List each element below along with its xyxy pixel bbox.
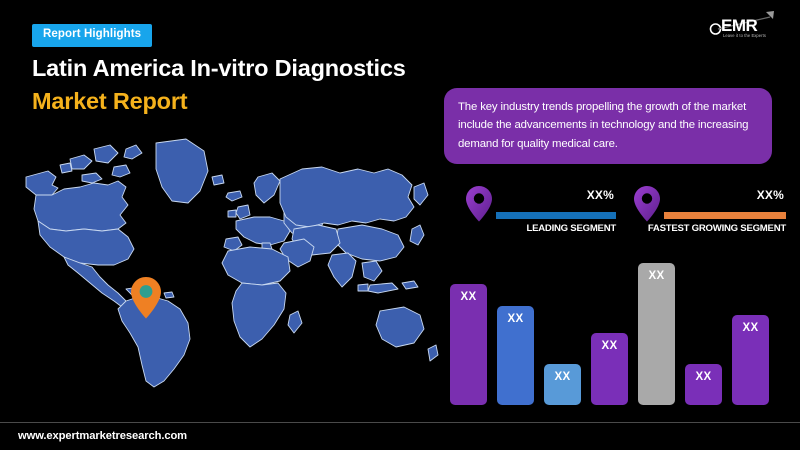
infographic-page: Report Highlights Latin America In-vitro… [0, 0, 800, 450]
fastest-growing-segment-value: XX% [757, 188, 784, 202]
bar-chart-bar-label: XX [497, 313, 534, 325]
key-trends-callout: The key industry trends propelling the g… [444, 88, 772, 164]
bar-chart-bar-label: XX [591, 340, 628, 352]
footer-divider [0, 422, 800, 423]
page-title-primary: Latin America In-vitro Diagnostics [32, 55, 406, 82]
bar-chart-bar: XX [450, 284, 487, 405]
fastest-growing-segment-label: FASTEST GROWING SEGMENT [634, 223, 786, 234]
svg-text:Leave it to the Experts: Leave it to the Experts [723, 33, 766, 38]
map-location-pin-icon [131, 277, 161, 319]
footer-url: www.expertmarketresearch.com [18, 430, 187, 442]
bar-chart-bar-label: XX [544, 371, 581, 383]
fastest-growing-segment: XX% FASTEST GROWING SEGMENT [634, 186, 786, 242]
location-pin-icon [466, 186, 492, 222]
bar-chart-bar-label: XX [450, 291, 487, 303]
bar-chart-bar: XX [544, 364, 581, 405]
page-title-secondary: Market Report [32, 88, 187, 115]
bar-chart-bar: XX [497, 306, 534, 405]
leading-segment-bar [496, 212, 616, 219]
world-map [22, 125, 442, 390]
leading-segment: XX% LEADING SEGMENT [466, 186, 616, 242]
bar-chart-bar-label: XX [685, 371, 722, 383]
bar-chart-bar: XX [638, 263, 675, 405]
bar-chart-bar-label: XX [638, 270, 675, 282]
bar-chart: XXXXXXXXXXXXXX [450, 255, 780, 405]
report-highlights-badge: Report Highlights [32, 24, 152, 47]
bar-chart-bar: XX [732, 315, 769, 405]
fastest-growing-segment-bar [664, 212, 786, 219]
bar-chart-bar: XX [685, 364, 722, 405]
bar-chart-bar-label: XX [732, 322, 769, 334]
leading-segment-value: XX% [587, 188, 614, 202]
bar-chart-bar: XX [591, 333, 628, 405]
leading-segment-label: LEADING SEGMENT [466, 223, 616, 234]
emr-logo: EMR Leave it to the Experts [708, 8, 786, 40]
world-map-svg [22, 125, 442, 390]
location-pin-icon [634, 186, 660, 222]
